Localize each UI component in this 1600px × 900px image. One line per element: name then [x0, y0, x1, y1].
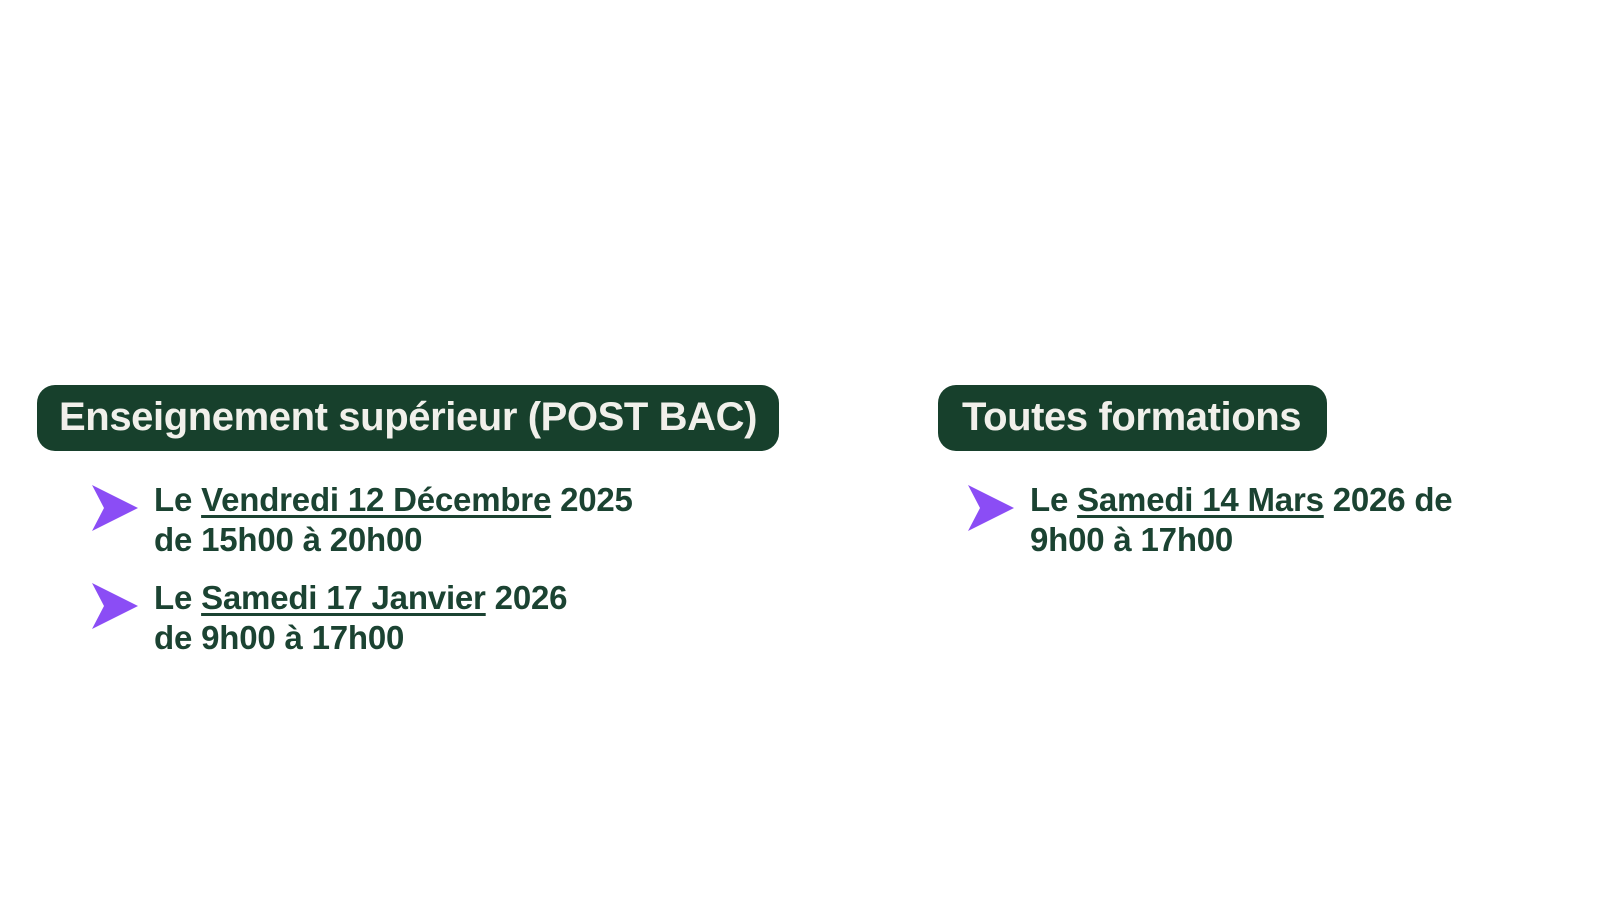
- date-year: 2026: [486, 579, 568, 616]
- date-entry-text: Le Vendredi 12 Décembre 2025 de 15h00 à …: [154, 473, 633, 561]
- date-prefix: Le: [1030, 481, 1077, 518]
- date-time-range: de 15h00 à 20h00: [154, 521, 422, 558]
- date-time-range: 9h00 à 17h00: [1030, 521, 1233, 558]
- arrow-right-icon: [82, 575, 144, 637]
- list-item: Le Vendredi 12 Décembre 2025 de 15h00 à …: [37, 473, 827, 561]
- section-enseignement-superieur: Enseignement supérieur (POST BAC) Le Ven…: [37, 385, 827, 668]
- date-year: 2026 de: [1324, 481, 1453, 518]
- date-year: 2025: [551, 481, 633, 518]
- arrow-right-icon: [82, 477, 144, 539]
- list-item: Le Samedi 17 Janvier 2026 de 9h00 à 17h0…: [37, 571, 827, 659]
- badge-toutes-formations: Toutes formations: [938, 385, 1327, 451]
- section-toutes-formations: Toutes formations Le Samedi 14 Mars 2026…: [938, 385, 1558, 571]
- date-entry-text: Le Samedi 17 Janvier 2026 de 9h00 à 17h0…: [154, 571, 567, 659]
- date-emphasis: Samedi 14 Mars: [1077, 481, 1324, 518]
- date-emphasis: Vendredi 12 Décembre: [201, 481, 551, 518]
- date-emphasis: Samedi 17 Janvier: [201, 579, 486, 616]
- date-prefix: Le: [154, 579, 201, 616]
- poster-canvas: Enseignement supérieur (POST BAC) Le Ven…: [0, 0, 1600, 900]
- date-list-toutes-formations: Le Samedi 14 Mars 2026 de 9h00 à 17h00: [938, 473, 1558, 561]
- date-entry-text: Le Samedi 14 Mars 2026 de 9h00 à 17h00: [1030, 473, 1452, 561]
- date-prefix: Le: [154, 481, 201, 518]
- date-list-enseignement-superieur: Le Vendredi 12 Décembre 2025 de 15h00 à …: [37, 473, 827, 658]
- badge-enseignement-superieur: Enseignement supérieur (POST BAC): [37, 385, 779, 451]
- list-item: Le Samedi 14 Mars 2026 de 9h00 à 17h00: [938, 473, 1558, 561]
- arrow-right-icon: [958, 477, 1020, 539]
- date-time-range: de 9h00 à 17h00: [154, 619, 404, 656]
